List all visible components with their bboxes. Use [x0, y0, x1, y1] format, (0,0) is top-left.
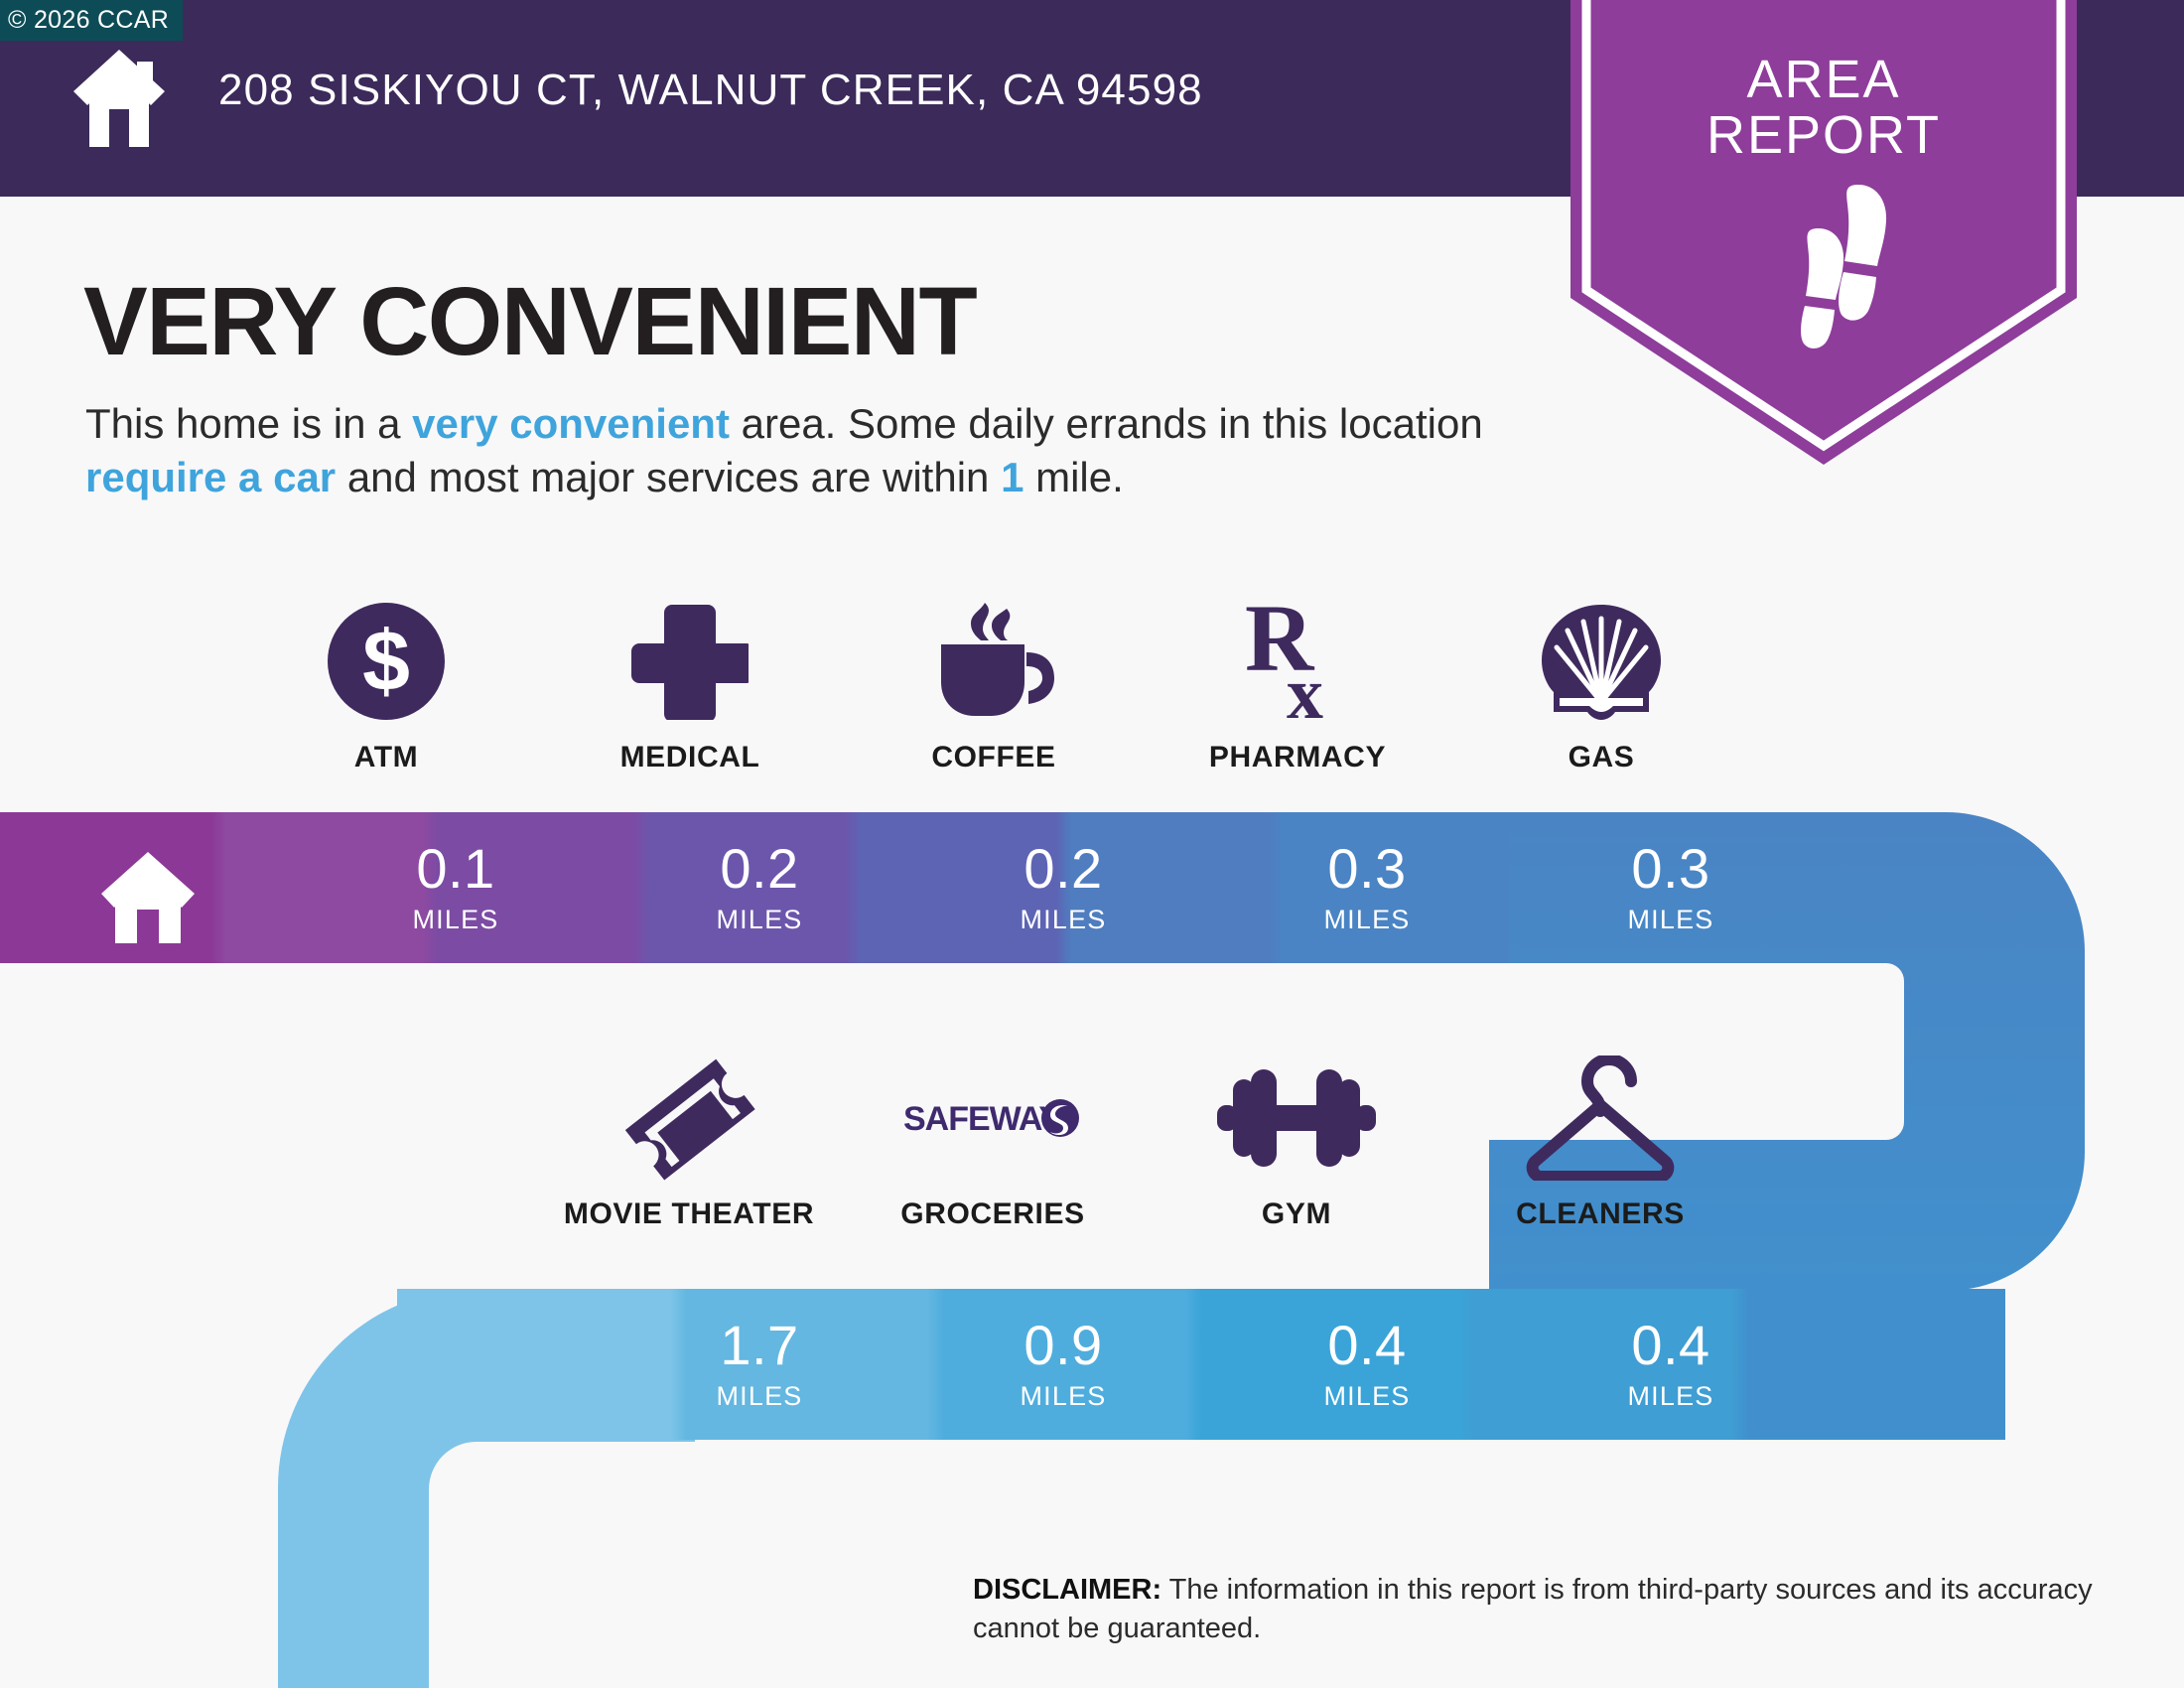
amenity-medical: MEDICAL — [538, 596, 842, 774]
movie-ticket-icon — [619, 1053, 758, 1184]
distance-ribbon — [0, 794, 2184, 1688]
coffee-cup-icon — [931, 596, 1056, 727]
blurb-part-3: and most major services are within — [336, 454, 1001, 500]
amenity-label: MEDICAL — [620, 741, 760, 774]
ribbon-row-2 — [397, 1289, 2005, 1440]
amenity-label: GAS — [1569, 741, 1635, 774]
banner-line-2: REPORT — [1570, 107, 2077, 163]
safeway-logo-icon: SAFEWAY — [903, 1053, 1082, 1184]
amenity-icon-row-1: $ ATM MEDICAL COFFEE — [234, 596, 1753, 774]
blurb-part-1: This home is in a — [85, 400, 412, 447]
banner-title: AREA REPORT — [1570, 52, 2077, 163]
svg-text:$: $ — [362, 614, 410, 709]
property-address: 208 SISKIYOU CT, WALNUT CREEK, CA 94598 — [218, 66, 1203, 115]
amenity-groceries: SAFEWAY GROCERIES — [841, 1053, 1145, 1231]
disclaimer: DISCLAIMER: The information in this repo… — [973, 1571, 2105, 1649]
dollar-circle-icon: $ — [328, 596, 445, 727]
shell-icon — [1540, 596, 1663, 727]
amenity-atm: $ ATM — [234, 596, 538, 774]
dumbbell-icon — [1217, 1053, 1376, 1184]
svg-text:SAFEWAY: SAFEWAY — [903, 1100, 1061, 1138]
ribbon-row-1 — [0, 812, 1509, 963]
amenity-gas: GAS — [1449, 596, 1753, 774]
rx-icon: R x — [1239, 596, 1356, 727]
blurb-highlight-2: require a car — [85, 454, 336, 500]
amenity-icon-row-2: MOVIE THEATER SAFEWAY GROCERIES — [537, 1053, 1752, 1231]
blurb-highlight-3: 1 — [1001, 454, 1024, 500]
blurb-highlight-1: very convenient — [412, 400, 730, 447]
blurb-part-2: area. Some daily errands in this locatio… — [730, 400, 1483, 447]
svg-text:x: x — [1287, 653, 1323, 724]
amenity-label: PHARMACY — [1209, 741, 1386, 774]
banner-line-1: AREA — [1570, 52, 2077, 107]
amenity-label: GYM — [1262, 1197, 1331, 1231]
area-report-banner: AREA REPORT — [1570, 0, 2077, 465]
amenity-gym: GYM — [1145, 1053, 1448, 1231]
disclaimer-label: DISCLAIMER: — [973, 1574, 1161, 1606]
home-icon — [99, 852, 197, 943]
amenity-cleaners: CLEANERS — [1448, 1053, 1752, 1231]
copyright-badge: © 2026 CCAR — [0, 0, 183, 41]
summary-text: This home is in a very convenient area. … — [85, 397, 1555, 504]
amenity-movie-theater: MOVIE THEATER — [537, 1053, 841, 1231]
amenity-label: CLEANERS — [1516, 1197, 1685, 1231]
amenity-label: GROCERIES — [900, 1197, 1084, 1231]
amenity-pharmacy: R x PHARMACY — [1146, 596, 1449, 774]
amenity-label: ATM — [354, 741, 419, 774]
hanger-icon — [1526, 1053, 1675, 1184]
amenity-label: MOVIE THEATER — [564, 1197, 814, 1231]
amenity-label: COFFEE — [931, 741, 1055, 774]
blurb-part-4: mile. — [1024, 454, 1123, 500]
medical-cross-icon — [631, 596, 749, 727]
area-report-page: © 2026 CCAR 208 SISKIYOU CT, WALNUT CREE… — [0, 0, 2184, 1688]
home-icon — [71, 48, 167, 147]
page-title: VERY CONVENIENT — [83, 266, 976, 377]
amenity-coffee: COFFEE — [842, 596, 1146, 774]
